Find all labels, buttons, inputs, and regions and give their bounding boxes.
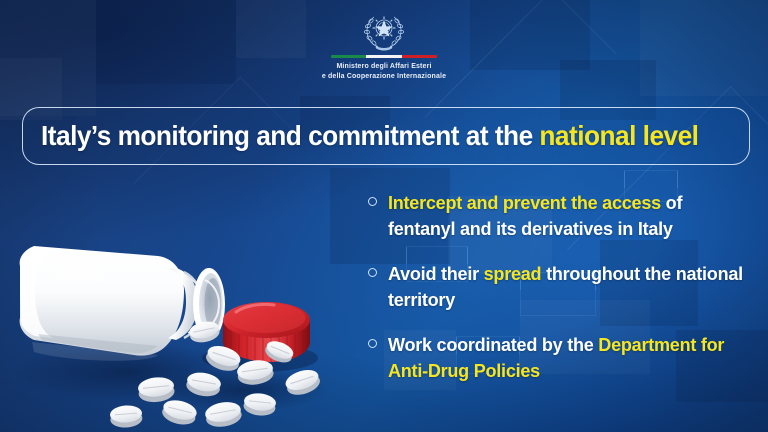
page-title: Italy’s monitoring and commitment at the… [41, 120, 698, 152]
bullet-2-highlight: spread [484, 263, 542, 284]
list-item: Avoid their spread throughout the nation… [368, 261, 760, 313]
title-banner: Italy’s monitoring and commitment at the… [22, 107, 750, 165]
emblem-of-italy-icon [359, 8, 409, 52]
slide-canvas: Ministero degli Affari Esteri e della Co… [0, 0, 768, 432]
bullet-1-highlight: Intercept and prevent the access [388, 192, 661, 213]
list-item-text: Work coordinated by the Department for A… [388, 332, 749, 384]
title-text-highlight: national level [539, 120, 698, 151]
list-item-text: Avoid their spread throughout the nation… [388, 261, 749, 313]
ministry-line-2: e della Cooperazione Internazionale [322, 72, 446, 82]
ministry-header: Ministero degli Affari Esteri e della Co… [0, 8, 768, 81]
bullet-list: Intercept and prevent the access of fent… [368, 190, 760, 403]
italian-tricolor-bar [331, 55, 437, 58]
list-item: Work coordinated by the Department for A… [368, 332, 760, 384]
bullet-3-plain: Work coordinated by the [388, 334, 598, 355]
list-item: Intercept and prevent the access of fent… [368, 190, 760, 242]
ministry-name: Ministero degli Affari Esteri e della Co… [322, 62, 446, 81]
bottle-body [20, 246, 184, 361]
bullet-2-plain-a: Avoid their [388, 263, 484, 284]
list-item-text: Intercept and prevent the access of fent… [388, 190, 749, 242]
tricolor-green [331, 55, 366, 58]
tricolor-red [402, 55, 437, 58]
circle-outline-icon [368, 339, 377, 348]
ministry-line-1: Ministero degli Affari Esteri [322, 62, 446, 72]
circle-outline-icon [368, 197, 377, 206]
pill-bottle-with-tablets-illustration [8, 222, 358, 432]
circle-outline-icon [368, 268, 377, 277]
tricolor-white [366, 55, 401, 58]
title-text-plain: Italy’s monitoring and commitment at the [41, 120, 539, 151]
